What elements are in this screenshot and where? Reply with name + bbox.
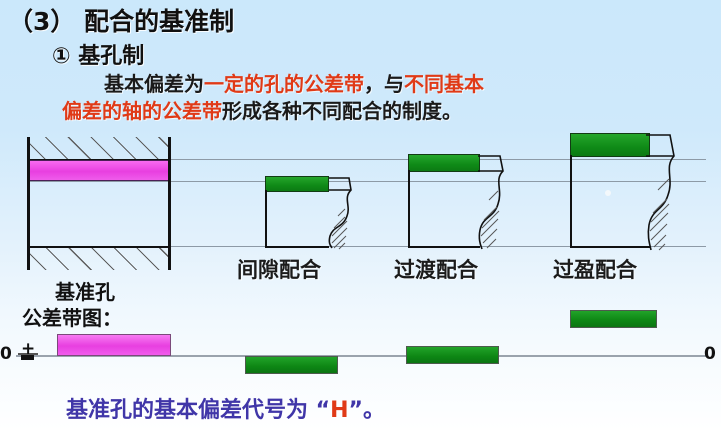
body-line-2: 偏差的轴的公差带形成各种不同配合的制度。: [62, 95, 462, 124]
zone-bar-interference: [570, 310, 657, 328]
footer-text-before: 基准孔的基本偏差代号为 “: [66, 398, 330, 423]
page-title: （3） 配合的基准制: [8, 2, 234, 38]
footer-highlight-H: H: [330, 398, 348, 423]
hole-hatch-top: [27, 137, 171, 160]
clearance-shaft-break: [321, 176, 355, 250]
hole-hatch-bottom: [27, 247, 171, 270]
clearance-shaft-outline: [265, 190, 329, 248]
interference-shaft-break: [638, 133, 680, 251]
hole-wall-left: [27, 137, 30, 270]
highlight-dot: [605, 190, 611, 196]
slide-canvas: （3） 配合的基准制 ① 基孔制 基本偏差为一定的孔的公差带，与不同基本 偏差的…: [0, 0, 721, 431]
transition-fit-shaft: [408, 154, 498, 248]
fit-label-transition: 过渡配合: [394, 254, 478, 284]
interference-fit-shaft: [570, 133, 670, 248]
minus-sign-label: [21, 355, 34, 360]
body-1-seg-4: 不同基本: [404, 72, 484, 96]
body-line-1: 基本偏差为一定的孔的公差带，与不同基本: [104, 68, 484, 97]
fit-label-interference: 过盈配合: [553, 254, 637, 284]
hole-wall-right: [168, 137, 171, 270]
zone-bar-hole-H: [57, 334, 171, 356]
section-subtitle: ① 基孔制: [52, 38, 144, 70]
zero-label-left: 0: [0, 344, 12, 364]
body-2-seg-2: 形成各种不同配合的制度。: [222, 99, 462, 123]
body-1-seg-1: 基本偏差为: [104, 72, 204, 96]
hole-tolerance-band: [27, 160, 171, 181]
zone-bar-transition: [406, 346, 499, 364]
transition-shaft-break: [470, 154, 508, 250]
hole-edge-lower: [27, 246, 171, 248]
body-1-seg-2: 一定的孔的公差带: [204, 72, 364, 96]
tolerance-zone-caption: 公差带图：: [22, 302, 122, 331]
footer-note: 基准孔的基本偏差代号为 “H”。: [66, 392, 385, 424]
zero-label-right: 0: [704, 344, 716, 364]
footer-text-after: ”。: [349, 398, 385, 423]
base-hole-section: [27, 137, 171, 270]
base-hole-caption: 基准孔: [55, 276, 115, 305]
zone-bar-clearance: [245, 356, 338, 374]
fit-label-clearance: 间隙配合: [237, 254, 321, 284]
body-1-seg-3: ，与: [364, 72, 404, 96]
clearance-fit-shaft: [265, 176, 343, 248]
body-2-seg-1: 偏差的轴的公差带: [62, 99, 222, 123]
